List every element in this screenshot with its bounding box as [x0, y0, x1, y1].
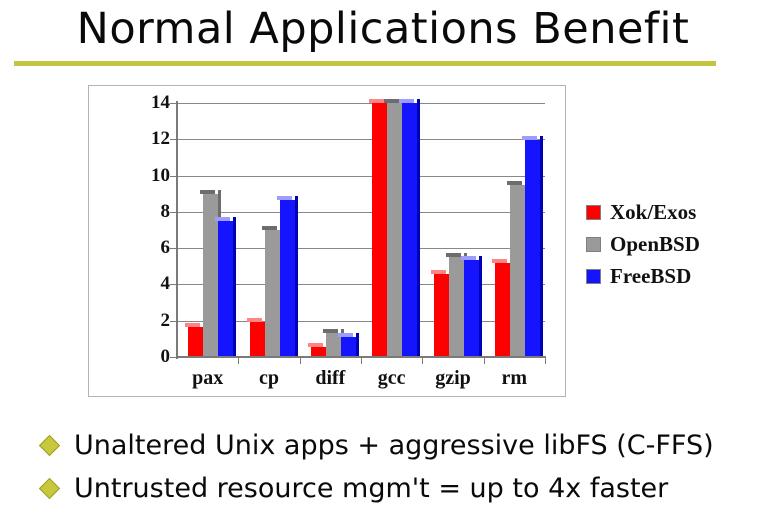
bar-top-face	[308, 343, 323, 347]
y-tick-label: 0	[130, 347, 170, 366]
bar-top-face	[185, 323, 200, 327]
bar-side-face	[417, 99, 420, 357]
page-title: Normal Applications Benefit	[0, 2, 766, 56]
bullet-item: Unaltered Unix apps + aggressive libFS (…	[42, 424, 752, 467]
bar-rm-xok-exos	[495, 263, 510, 357]
bar-top-face	[446, 253, 461, 257]
legend-label: FreeBSD	[610, 264, 691, 289]
bar-cp-openbsd	[265, 230, 280, 357]
y-tick-label: 10	[130, 166, 170, 185]
bar-top-face	[431, 270, 446, 274]
legend-swatch-icon	[586, 205, 601, 220]
y-tick-label: 4	[130, 274, 170, 293]
bar-top-face	[522, 136, 537, 140]
legend-label: OpenBSD	[610, 232, 700, 257]
bar-rm-openbsd	[510, 185, 525, 357]
bar-top-face	[277, 196, 292, 200]
legend-item-xok-exos: Xok/Exos	[586, 196, 761, 228]
bar-top-face	[461, 256, 476, 260]
bar-top-face	[384, 99, 399, 103]
bar-gcc-openbsd	[387, 103, 402, 357]
y-tick-label: 8	[130, 202, 170, 221]
bar-side-face	[295, 196, 298, 357]
x-tick-label-rm: rm	[469, 366, 559, 390]
bar-group	[434, 103, 479, 357]
y-tick-label: 12	[130, 129, 170, 148]
bar-group	[311, 103, 356, 357]
bar-pax-xok-exos	[188, 327, 203, 357]
legend-item-openbsd: OpenBSD	[586, 228, 761, 260]
bar-group	[495, 103, 540, 357]
y-axis-line	[176, 101, 178, 359]
bar-gcc-freebsd	[402, 103, 417, 357]
chart-plot-area	[177, 103, 545, 357]
bar-diff-freebsd	[341, 337, 356, 357]
y-axis-tick-labels: 14121086420	[126, 103, 170, 357]
bar-cp-xok-exos	[250, 322, 265, 357]
bar-side-face	[540, 136, 543, 357]
x-tick-mark	[361, 357, 362, 364]
bar-group	[250, 103, 295, 357]
bullet-text: Untrusted resource mgm't = up to 4x fast…	[74, 473, 668, 504]
bar-cp-freebsd	[280, 200, 295, 357]
legend-item-freebsd: FreeBSD	[586, 260, 761, 292]
legend-swatch-icon	[586, 269, 601, 284]
bar-side-face	[479, 256, 482, 357]
bullet-text: Unaltered Unix apps + aggressive libFS (…	[74, 430, 714, 461]
bar-top-face	[399, 99, 414, 103]
y-tick-label: 2	[130, 311, 170, 330]
bar-top-face	[262, 226, 277, 230]
bullet-item: Untrusted resource mgm't = up to 4x fast…	[42, 467, 752, 510]
x-tick-mark	[484, 357, 485, 364]
bar-top-face	[338, 333, 353, 337]
bar-side-face	[356, 333, 359, 357]
y-tick-label: 14	[130, 93, 170, 112]
bar-side-face	[233, 217, 236, 357]
bar-gzip-freebsd	[464, 260, 479, 357]
bar-top-face	[215, 217, 230, 221]
bullet-list: Unaltered Unix apps + aggressive libFS (…	[42, 424, 752, 510]
bar-top-face	[492, 259, 507, 263]
y-tick-label: 6	[130, 238, 170, 257]
x-tick-mark	[545, 357, 546, 364]
bar-gcc-xok-exos	[372, 103, 387, 357]
x-tick-mark	[300, 357, 301, 364]
bar-group	[188, 103, 233, 357]
bar-gzip-xok-exos	[434, 274, 449, 357]
diamond-bullet-icon	[39, 478, 60, 499]
bar-top-face	[200, 190, 215, 194]
bar-pax-freebsd	[218, 221, 233, 357]
chart-legend: Xok/ExosOpenBSDFreeBSD	[586, 196, 761, 292]
legend-label: Xok/Exos	[610, 200, 696, 225]
bar-gzip-openbsd	[449, 257, 464, 357]
bar-group	[372, 103, 417, 357]
bar-top-face	[323, 329, 338, 333]
diamond-bullet-icon	[39, 435, 60, 456]
x-tick-mark	[422, 357, 423, 364]
bar-top-face	[507, 181, 522, 185]
legend-swatch-icon	[586, 237, 601, 252]
title-underline-rule	[14, 61, 716, 66]
x-tick-mark	[238, 357, 239, 364]
bar-top-face	[369, 99, 384, 103]
bar-top-face	[247, 318, 262, 322]
bar-rm-freebsd	[525, 140, 540, 357]
